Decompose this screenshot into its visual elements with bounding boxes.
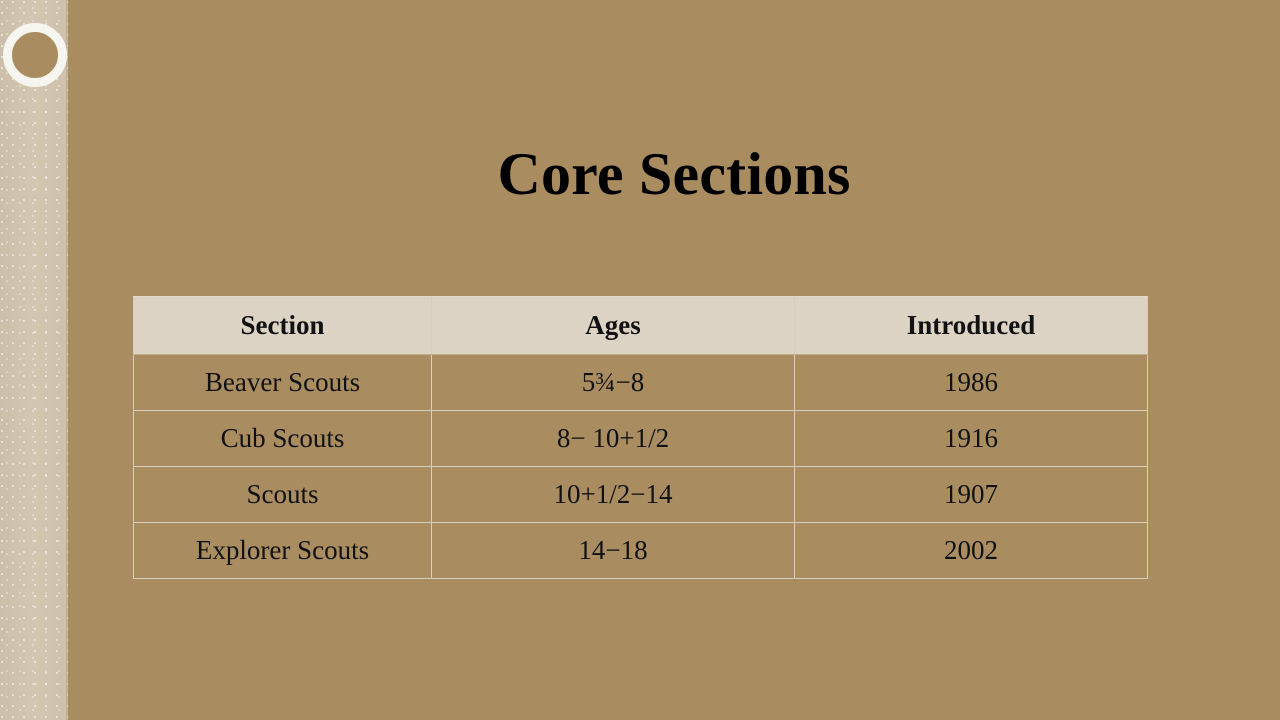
column-header-section: Section	[134, 297, 432, 355]
circle-ring-icon	[3, 23, 67, 87]
cell-section: Explorer Scouts	[134, 523, 432, 579]
cell-ages: 10+1/2−14	[432, 467, 795, 523]
cell-section: Beaver Scouts	[134, 355, 432, 411]
table-row: Explorer Scouts 14−18 2002	[134, 523, 1148, 579]
cell-ages: 8− 10+1/2	[432, 411, 795, 467]
table-row: Beaver Scouts 5¾−8 1986	[134, 355, 1148, 411]
cell-section: Cub Scouts	[134, 411, 432, 467]
table-row: Scouts 10+1/2−14 1907	[134, 467, 1148, 523]
left-texture-strip	[0, 0, 68, 720]
table-header-row: Section Ages Introduced	[134, 297, 1148, 355]
core-sections-table-container: Section Ages Introduced Beaver Scouts 5¾…	[133, 296, 1147, 579]
left-strip-edge	[66, 0, 69, 720]
cell-introduced: 1916	[795, 411, 1148, 467]
column-header-introduced: Introduced	[795, 297, 1148, 355]
cell-ages: 14−18	[432, 523, 795, 579]
cell-introduced: 1907	[795, 467, 1148, 523]
slide-canvas: Core Sections Section Ages Introduced Be…	[0, 0, 1280, 720]
cell-section: Scouts	[134, 467, 432, 523]
cell-introduced: 2002	[795, 523, 1148, 579]
cell-ages: 5¾−8	[432, 355, 795, 411]
core-sections-table: Section Ages Introduced Beaver Scouts 5¾…	[133, 296, 1148, 579]
page-title: Core Sections	[68, 143, 1280, 206]
cell-introduced: 1986	[795, 355, 1148, 411]
column-header-ages: Ages	[432, 297, 795, 355]
table-row: Cub Scouts 8− 10+1/2 1916	[134, 411, 1148, 467]
